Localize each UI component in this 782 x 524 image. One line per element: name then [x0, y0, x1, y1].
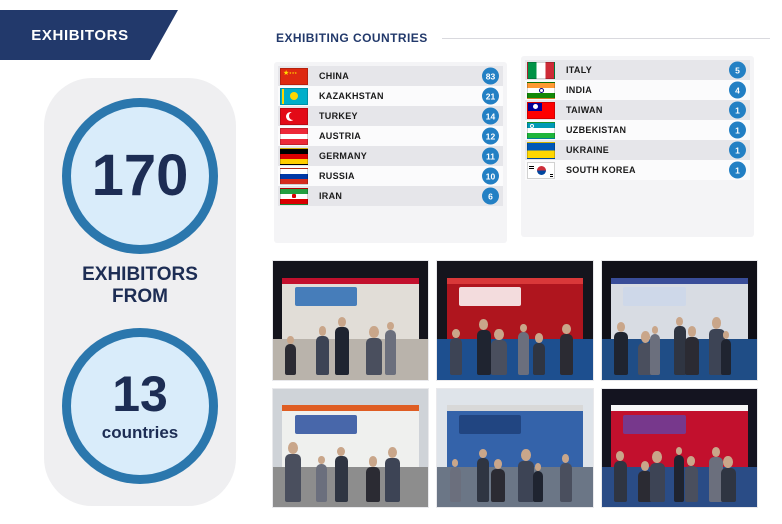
country-count-badge: 12 — [482, 128, 499, 145]
photo-visitor — [721, 468, 737, 502]
exhibitors-panel: EXHIBITORS 170 EXHIBITORS FROM 13 countr… — [0, 0, 266, 524]
photo-visitor-head — [520, 324, 527, 332]
photo-visitor — [650, 463, 666, 502]
photo-visitor — [285, 344, 296, 375]
country-count-badge: 1 — [729, 142, 746, 159]
flag-iran-icon — [280, 188, 308, 205]
countries-word-label: countries — [102, 423, 179, 443]
photo-visitors-talking-2 — [436, 260, 593, 381]
countries-number: 13 — [112, 369, 168, 419]
photo-visitor — [614, 332, 628, 375]
photo-exhibition-booth-1 — [272, 260, 429, 381]
photo-booth-banner — [295, 287, 357, 306]
photo-visitor-head — [723, 456, 733, 468]
photo-booth-display-4 — [272, 388, 429, 509]
photo-seminar-audience-5 — [436, 388, 593, 509]
photo-visitor-head — [521, 449, 531, 461]
country-count-badge: 1 — [729, 102, 746, 119]
country-row[interactable]: UKRAINE1 — [525, 140, 750, 160]
country-count-badge: 83 — [482, 68, 499, 85]
photo-visitor — [650, 334, 661, 374]
photo-booth-banner — [623, 415, 685, 434]
photo-booth-banner — [623, 287, 685, 306]
country-count-badge: 21 — [482, 88, 499, 105]
photo-visitor — [518, 332, 529, 375]
photo-visitor — [316, 336, 328, 375]
country-count-badge: 1 — [729, 162, 746, 179]
flag-kazakhstan-icon — [280, 88, 308, 105]
exhibitors-from-line2: FROM — [44, 286, 236, 308]
exhibitors-ribbon-banner: EXHIBITORS — [0, 10, 178, 60]
photo-visitor — [533, 343, 545, 375]
photo-exhibition-hall-3 — [601, 260, 758, 381]
country-row[interactable]: INDIA4 — [525, 80, 750, 100]
country-name: RUSSIA — [319, 171, 355, 181]
photo-visitor-head — [452, 459, 459, 467]
photo-visitor — [685, 337, 699, 375]
country-row[interactable]: TAIWAN1 — [525, 100, 750, 120]
photo-visitor — [533, 471, 544, 502]
photo-visitor — [560, 463, 572, 502]
countries-column-left: CHINA83KAZAKHSTAN21TURKEY14AUSTRIA12GERM… — [274, 62, 507, 243]
photo-visitor-head — [479, 449, 487, 458]
country-name: CHINA — [319, 71, 349, 81]
photo-visitor-head — [687, 456, 695, 465]
photo-floor — [273, 339, 428, 379]
country-row[interactable]: IRAN6 — [278, 186, 503, 206]
photo-visitor — [366, 338, 382, 375]
ribbon-label: EXHIBITORS — [31, 27, 128, 44]
flag-south-korea-icon — [527, 162, 555, 179]
section-header: EXHIBITING COUNTRIES — [276, 30, 770, 46]
country-count-badge: 5 — [729, 62, 746, 79]
country-name: SOUTH KOREA — [566, 165, 636, 175]
photo-visitor — [385, 458, 401, 502]
photo-visitor — [674, 455, 685, 502]
flag-italy-icon — [527, 62, 555, 79]
photo-visitor — [335, 456, 347, 502]
country-name: KAZAKHSTAN — [319, 91, 384, 101]
country-name: INDIA — [566, 85, 592, 95]
country-name: TAIWAN — [566, 105, 603, 115]
flag-china-icon — [280, 68, 308, 85]
country-name: ITALY — [566, 65, 592, 75]
photo-booth-banner — [295, 415, 357, 434]
photo-visitor — [450, 338, 462, 375]
country-name: AUSTRIA — [319, 131, 361, 141]
photo-visitor — [335, 327, 349, 374]
photo-booth-banner — [459, 287, 521, 306]
photo-visitor — [685, 466, 697, 503]
photo-visitor-head — [452, 329, 460, 338]
photo-visitor — [614, 461, 626, 502]
flag-austria-icon — [280, 128, 308, 145]
photo-visitor — [477, 330, 491, 375]
flag-germany-icon — [280, 148, 308, 165]
flag-turkey-icon — [280, 108, 308, 125]
photo-visitor — [560, 334, 574, 374]
photo-visitor-head — [676, 447, 683, 455]
country-row[interactable]: SOUTH KOREA1 — [525, 160, 750, 180]
country-count-badge: 11 — [482, 148, 499, 165]
flag-taiwan-icon — [527, 102, 555, 119]
exhibitors-count-circle: 170 — [62, 98, 218, 254]
photo-visitor-head — [494, 329, 504, 341]
country-count-badge: 14 — [482, 108, 499, 125]
photo-gallery — [272, 260, 758, 508]
exhibiting-countries-panel: EXHIBITING COUNTRIES CHINA83KAZAKHSTAN21… — [266, 0, 782, 524]
photo-visitor-head — [616, 451, 624, 460]
country-count-badge: 4 — [729, 82, 746, 99]
photo-crowd-walkway-6 — [601, 388, 758, 509]
flag-india-icon — [527, 82, 555, 99]
country-name: GERMANY — [319, 151, 367, 161]
country-count-badge: 10 — [482, 168, 499, 185]
exhibitors-number: 170 — [92, 147, 189, 205]
country-name: UKRAINE — [566, 145, 609, 155]
section-header-divider — [442, 38, 770, 39]
country-row[interactable]: CHINA83 — [278, 66, 503, 86]
photo-visitor-head — [712, 317, 722, 329]
photo-visitor — [477, 458, 489, 502]
photo-visitor-head — [288, 442, 298, 454]
photo-visitor-head — [369, 326, 379, 338]
photo-visitor — [721, 339, 732, 375]
country-count-badge: 6 — [482, 188, 499, 205]
country-row[interactable]: AUSTRIA12 — [278, 126, 503, 146]
photo-visitor — [385, 330, 396, 375]
exhibitors-from-label: EXHIBITORS FROM — [44, 264, 236, 309]
country-row[interactable]: RUSSIA10 — [278, 166, 503, 186]
photo-booth-banner — [459, 415, 521, 434]
photo-visitor-head — [369, 456, 378, 467]
country-row[interactable]: KAZAKHSTAN21 — [278, 86, 503, 106]
countries-count-circle: 13 countries — [62, 328, 218, 484]
flag-ukraine-icon — [527, 142, 555, 159]
photo-visitor-head — [287, 336, 294, 344]
photo-visitor-head — [562, 324, 571, 335]
country-row[interactable]: GERMANY11 — [278, 146, 503, 166]
photo-visitor-head — [535, 333, 543, 342]
photo-visitor — [518, 461, 534, 502]
country-row[interactable]: ITALY5 — [525, 60, 750, 80]
photo-visitor-head — [479, 319, 488, 330]
country-row[interactable]: UZBEKISTAN1 — [525, 120, 750, 140]
countries-column-right: ITALY5INDIA4TAIWAN1UZBEKISTAN1UKRAINE1SO… — [521, 56, 754, 237]
flag-uzbekistan-icon — [527, 122, 555, 139]
photo-visitor — [366, 467, 380, 503]
photo-visitor — [491, 340, 507, 374]
photo-visitor-head — [337, 447, 345, 456]
photo-visitor — [316, 464, 327, 502]
photo-visitor — [285, 454, 301, 503]
exhibitors-from-line1: EXHIBITORS — [44, 264, 236, 286]
photo-visitor — [491, 469, 505, 502]
photo-visitor-head — [387, 322, 394, 330]
photo-visitor-head — [319, 326, 327, 335]
flag-russia-icon — [280, 168, 308, 185]
country-row[interactable]: TURKEY14 — [278, 106, 503, 126]
photo-visitor-head — [688, 326, 697, 337]
country-name: UZBEKISTAN — [566, 125, 626, 135]
country-name: IRAN — [319, 191, 342, 201]
country-name: TURKEY — [319, 111, 358, 121]
photo-visitor — [450, 467, 461, 503]
section-title: EXHIBITING COUNTRIES — [276, 31, 428, 45]
country-count-badge: 1 — [729, 122, 746, 139]
